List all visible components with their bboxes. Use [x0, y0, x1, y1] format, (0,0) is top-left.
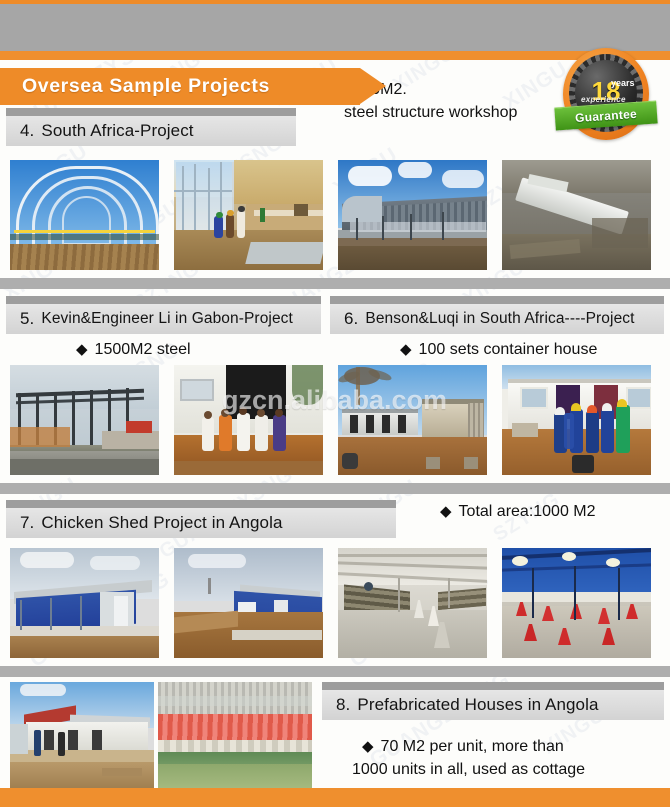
photo-blue-chicken-shed-exterior-1 — [10, 548, 159, 658]
section-7-cap — [6, 500, 396, 508]
section-5-cap — [6, 296, 321, 304]
section-7-bullet-1-text: Total area:1000 M2 — [459, 501, 596, 522]
section-8-title: Prefabricated Houses in Angola — [357, 695, 598, 715]
bottom-orange-stripe — [0, 788, 670, 807]
section-8-number: 8. — [336, 695, 350, 715]
section-6-number: 6. — [344, 309, 358, 329]
badge-guarantee-label: Guarantee — [575, 107, 638, 125]
section-6-body: 6. Benson&Luqi in South Africa----Projec… — [330, 304, 664, 334]
section-7-number: 7. — [20, 513, 34, 533]
section-header-6: 6. Benson&Luqi in South Africa----Projec… — [330, 296, 664, 334]
section-8-body: 8. Prefabricated Houses in Angola — [322, 690, 664, 720]
photo-prefab-housing-estate-aerial — [158, 682, 312, 788]
section-header-4: 4. South Africa-Project — [6, 108, 296, 146]
banner-oversea-sample-projects: Oversea Sample Projects — [0, 68, 360, 105]
section-6-bullet-1: ◆ 100 sets container house — [400, 339, 597, 360]
top-gray-band — [0, 0, 670, 51]
section-header-5: 5. Kevin&Engineer Li in Gabon-Project — [6, 296, 321, 334]
section-6-cap — [330, 296, 664, 304]
section-6-bullet-1-text: 100 sets container house — [419, 339, 598, 360]
section-5-bullet-1: ◆ 1500M2 steel — [76, 339, 191, 360]
section-5-title: Kevin&Engineer Li in Gabon-Project — [41, 310, 293, 328]
banner-arrow-tip — [360, 68, 386, 104]
photo-chicken-shed-interior-feeders — [338, 548, 487, 658]
photo-workshop-interior-workers — [174, 160, 323, 270]
section-7-bullet-1: ◆ Total area:1000 M2 — [440, 501, 596, 522]
section-4-title: South Africa-Project — [41, 121, 193, 141]
photo-steel-frame-interior-blue-sky — [10, 160, 159, 270]
section-header-7: 7. Chicken Shed Project in Angola — [6, 500, 396, 538]
section-4-number: 4. — [20, 121, 34, 141]
diamond-bullet-icon: ◆ — [440, 504, 452, 519]
photo-chicken-shed-interior-red-feeders — [502, 548, 651, 658]
poster-page: GUANGZYSNG XINGU XINGU XINGU XINGU XINGU… — [0, 0, 670, 807]
section-4-body: 4. South Africa-Project — [6, 116, 296, 146]
badge-years-label: years — [611, 78, 635, 88]
section-4-cap — [6, 108, 296, 116]
section-4-bullet-2: steel structure workshop — [344, 102, 517, 123]
photo-grey-clad-workshop-exterior — [338, 160, 487, 270]
section-header-8: 8. Prefabricated Houses in Angola — [322, 682, 664, 720]
section-7-title: Chicken Shed Project in Angola — [41, 513, 282, 533]
separator-band-1 — [0, 278, 670, 289]
photo-dark-steel-frame-roadside — [10, 365, 159, 475]
banner-title: Oversea Sample Projects — [22, 75, 270, 98]
section-8-bullet-2-text: 1000 units in all, used as cottage — [352, 759, 585, 780]
photo-blue-chicken-shed-exterior-2 — [174, 548, 323, 658]
section-4-bullet-2-text: steel structure workshop — [344, 102, 517, 123]
section-6-title: Benson&Luqi in South Africa----Project — [365, 310, 634, 328]
diamond-bullet-icon: ◆ — [400, 342, 412, 357]
photo-container-houses-baobab-tree — [338, 365, 487, 475]
section-8-bullet-1: ◆ 70 M2 per unit, more than — [362, 736, 564, 757]
section-8-bullet-1-text: 70 M2 per unit, more than — [381, 736, 564, 757]
separator-band-3 — [0, 666, 670, 677]
diamond-bullet-icon: ◆ — [76, 342, 88, 357]
photo-team-photo-warehouse-door — [174, 365, 323, 475]
separator-band-2 — [0, 483, 670, 494]
top-orange-stripe — [0, 0, 670, 4]
photo-prefab-house-red-roof-construction — [10, 682, 154, 788]
photo-aerial-view-long-workshop — [502, 160, 651, 270]
section-5-number: 5. — [20, 309, 34, 329]
guarantee-badge: 18 years experience Guarantee — [551, 46, 661, 150]
section-8-bullet-2: 1000 units in all, used as cottage — [352, 759, 585, 780]
section-5-body: 5. Kevin&Engineer Li in Gabon-Project — [6, 304, 321, 334]
photo-workers-blue-overalls-container — [502, 365, 651, 475]
diamond-bullet-icon: ◆ — [362, 739, 374, 754]
section-5-bullet-1-text: 1500M2 steel — [95, 339, 191, 360]
section-8-cap — [322, 682, 664, 690]
section-7-body: 7. Chicken Shed Project in Angola — [6, 508, 396, 538]
content-canvas: GUANGZYSNG XINGU XINGU XINGU XINGU XINGU… — [0, 60, 670, 788]
